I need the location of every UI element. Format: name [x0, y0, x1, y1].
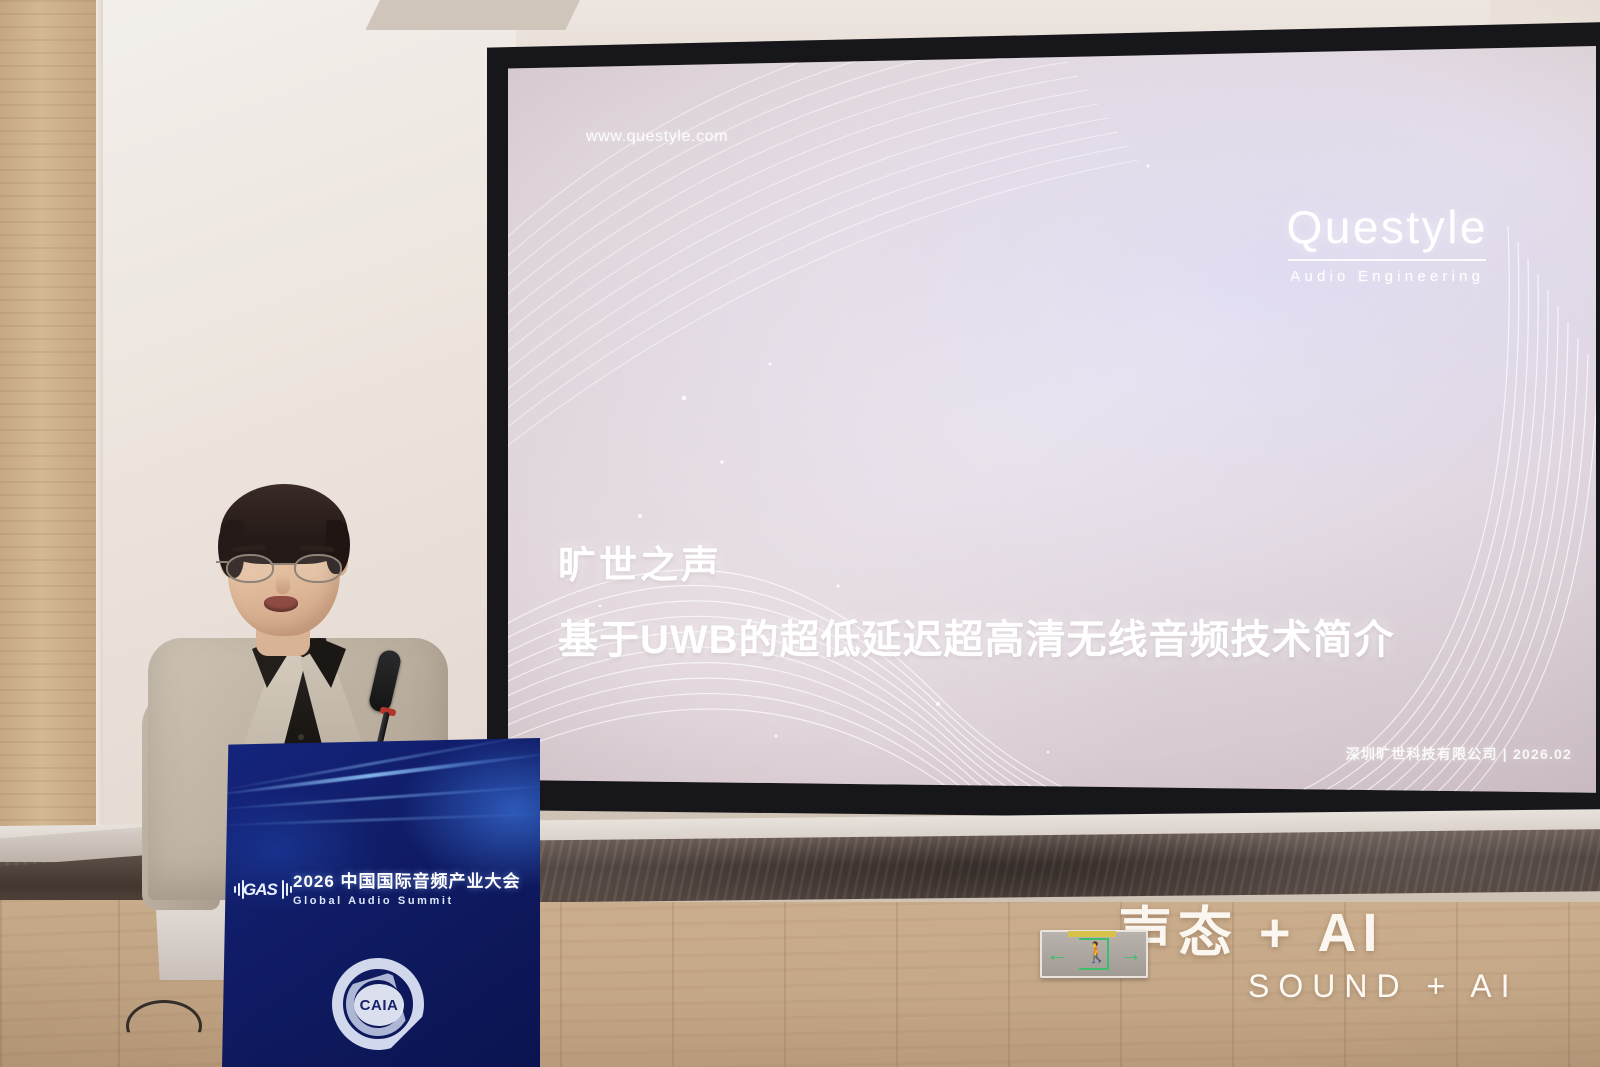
slide-url: www.questyle.com [586, 128, 728, 146]
questyle-logo: Questyle Audio Engineering [1286, 204, 1488, 285]
questyle-tagline: Audio Engineering [1286, 268, 1488, 285]
podium-title-english: Global Audio Summit [293, 895, 521, 908]
exit-running-man-icon: 🚶 [1079, 938, 1109, 970]
projection-screen: www.questyle.com Questyle Audio Engineer… [508, 46, 1596, 798]
speaker-nose [276, 574, 290, 594]
ceiling-soffit [365, 0, 580, 30]
emergency-exit-icon: ← 🚶 → [1040, 930, 1148, 978]
slide-title-block: 旷世之声 基于UWB的超低延迟超高清无线音频技术简介 [558, 534, 1395, 665]
microphone-head [367, 648, 402, 713]
podium-branding: GAS 2026 中国国际音频产业大会 Global Audio Summit [234, 872, 534, 907]
wall-signage-english: SOUND + AI [1248, 968, 1519, 1005]
shirt-button-upper [298, 734, 304, 740]
conference-photo-scene: www.questyle.com Questyle Audio Engineer… [0, 0, 1600, 1067]
gas-logo-text: GAS [243, 880, 277, 900]
wall-signage-chinese: 声态 + AI [1118, 888, 1384, 967]
exit-arrow-left-icon: ← [1046, 943, 1068, 965]
slide-footer-company: 深圳旷世科技有限公司 | 2026.02 [1346, 744, 1572, 764]
wood-column-left [0, 0, 100, 880]
exit-sign-strip [1068, 931, 1116, 937]
questyle-brand-text: Questyle [1286, 204, 1488, 250]
podium-title-chinese: 2026 中国国际音频产业大会 [293, 872, 521, 892]
slide-title-primary: 旷世之声 [558, 534, 1395, 589]
caia-emblem-icon: CAIA [332, 958, 424, 1050]
slide-line-artwork [508, 46, 1596, 798]
caia-emblem-text: CAIA [360, 997, 399, 1014]
exit-arrow-right-icon: → [1120, 943, 1142, 965]
slide-title-secondary: 基于UWB的超低延迟超高清无线音频技术简介 [558, 607, 1395, 665]
wood-column-edge [96, 0, 103, 880]
logo-divider-rule [1288, 259, 1486, 261]
gas-logo-icon: GAS [234, 875, 286, 905]
speaker-mouth [264, 596, 298, 612]
